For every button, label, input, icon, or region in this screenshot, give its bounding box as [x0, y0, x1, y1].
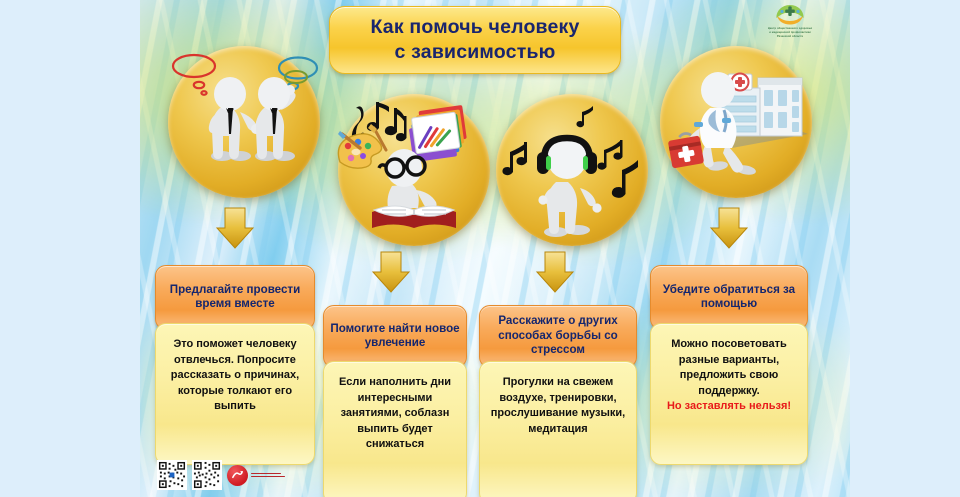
arrow-down-3 [532, 250, 578, 294]
arrow-down-4 [706, 206, 752, 250]
page-title-line-1: Как помочь человеку [370, 15, 579, 40]
card-seek-help: Убедите обратиться за помощью Можно посо… [650, 265, 808, 465]
card-body-main: Можно посоветовать разные варианты, пред… [658, 337, 800, 399]
card-heading-text: Расскажите о других способах борьбы со с… [486, 314, 630, 358]
card-body-text: Можно посоветовать разные варианты, пред… [658, 337, 800, 415]
poster-stage: Как помочь человеку с зависимостью Центр… [0, 0, 960, 497]
card-spend-time-together: Предлагайте провести время вместе Это по… [155, 265, 315, 465]
health-center-logo: Центр общественного здоровья и медицинск… [757, 2, 823, 44]
card-heading-text: Помогите найти новое увлечение [330, 322, 460, 351]
card-body: Это поможет человеку отвлечься. Попросит… [155, 323, 315, 465]
card-body-text: Это поможет человеку отвлечься. Попросит… [163, 337, 307, 415]
footer-codes [157, 458, 297, 492]
card-body: Можно посоветовать разные варианты, пред… [650, 323, 808, 465]
paint-palette-icon [338, 124, 386, 168]
qr-code-2[interactable] [192, 460, 222, 490]
logo-text-line-3: Рязанской области [757, 35, 823, 38]
listening-figure [537, 137, 602, 237]
qr-code-1[interactable] [157, 460, 187, 490]
badge-emblem-icon [227, 465, 248, 486]
page-title-line-2: с зависимостью [394, 40, 555, 65]
card-body-text: Прогулки на свежем воздухе, тренировки, … [487, 375, 629, 437]
card-heading-text: Предлагайте провести время вместе [162, 283, 308, 312]
logo-text-line-2: и медицинской профилактики [757, 31, 823, 34]
colored-papers-icon [407, 105, 469, 162]
card-stress-coping: Расскажите о других способах борьбы со с… [479, 305, 637, 497]
card-heading: Расскажите о других способах борьбы со с… [479, 305, 637, 368]
letterbox-left [0, 0, 140, 497]
person-with-headphones-icon [496, 94, 648, 246]
doctor-with-hospital-icon [660, 46, 812, 198]
poster-canvas: Как помочь человеку с зависимостью Центр… [140, 0, 850, 497]
card-find-new-hobby: Помогите найти новое увлечение Если напо… [323, 305, 467, 497]
figure-left [209, 77, 261, 161]
illustration-circle-seek-help [660, 46, 812, 198]
card-heading: Убедите обратиться за помощью [650, 265, 808, 330]
illustration-circle-stress-coping [496, 94, 648, 246]
card-body-warning: Но заставлять нельзя! [658, 399, 800, 415]
arrow-down-1 [212, 206, 258, 250]
person-reading-with-hobbies-icon [338, 94, 490, 246]
letterbox-right [850, 0, 960, 497]
page-title: Как помочь человеку с зависимостью [329, 6, 621, 74]
card-heading: Помогите найти новое увлечение [323, 305, 467, 368]
card-body: Прогулки на свежем воздухе, тренировки, … [479, 361, 637, 497]
badge-text-lines [251, 473, 285, 478]
organization-badge [227, 465, 285, 486]
two-people-talking-icon [168, 46, 320, 198]
logo-emblem-icon [757, 2, 823, 26]
card-heading: Предлагайте провести время вместе [155, 265, 315, 330]
logo-text-line-1: Центр общественного здоровья [757, 27, 823, 30]
card-heading-text: Убедите обратиться за помощью [657, 283, 801, 312]
illustration-circle-two-people-talking [168, 46, 320, 198]
first-aid-kit-icon [668, 133, 704, 169]
figure-right [255, 77, 296, 161]
card-body-text: Если наполнить дни интересными занятиями… [331, 375, 459, 453]
reading-figure [372, 149, 456, 228]
card-body: Если наполнить дни интересными занятиями… [323, 361, 467, 497]
illustration-circle-new-hobby [338, 94, 490, 246]
arrow-down-2 [368, 250, 414, 294]
